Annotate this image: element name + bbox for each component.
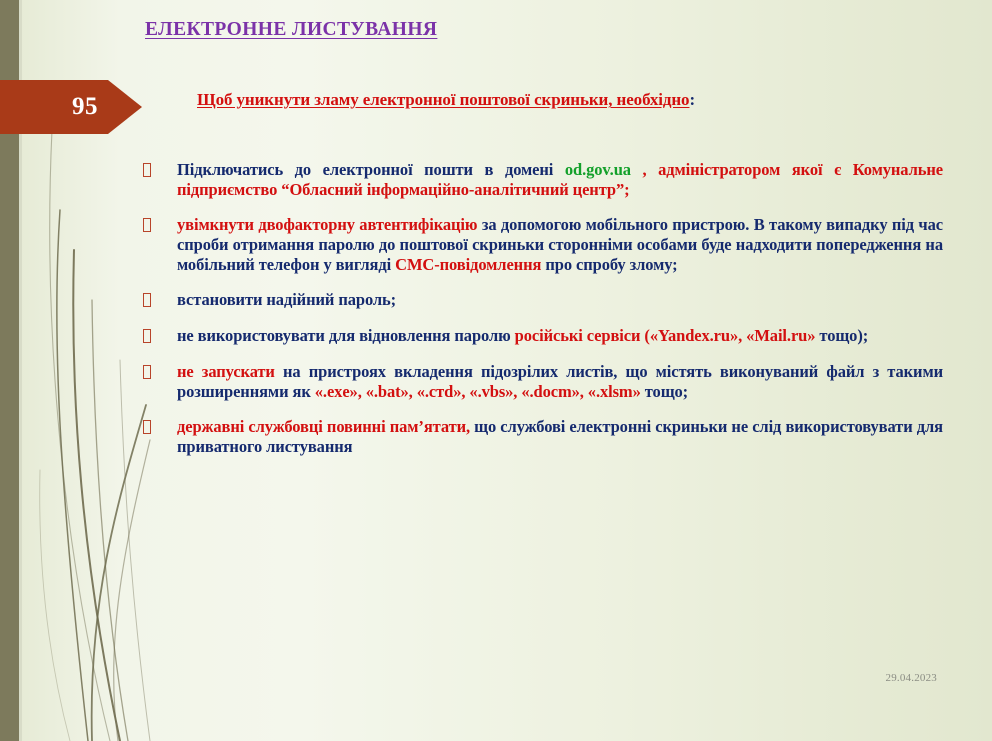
- presentation-slide: 95 ЕЛЕКТРОННЕ ЛИСТУВАННЯ Щоб уникнути зл…: [0, 0, 992, 741]
- square-bullet-icon: [143, 215, 177, 236]
- text-segment: про спробу злому;: [541, 255, 677, 274]
- text-segment: не використовувати для відновлення парол…: [177, 326, 515, 345]
- list-item-text: встановити надійний пароль;: [177, 290, 943, 310]
- square-bullet-icon: [143, 290, 177, 311]
- bullet-list: Підключатись до електронної пошти в доме…: [143, 160, 943, 472]
- slide-title: ЕЛЕКТРОННЕ ЛИСТУВАННЯ: [145, 19, 437, 41]
- slide-number-banner: 95: [0, 80, 142, 134]
- slide-number: 95: [72, 93, 98, 121]
- list-item-text: увімкнути двофакторну автентифікацію за …: [177, 215, 943, 275]
- text-segment: встановити надійний пароль;: [177, 290, 396, 309]
- text-segment: СМС-повідомлення: [395, 255, 541, 274]
- text-segment: тощо);: [815, 326, 868, 345]
- subtitle-text: Щоб уникнути зламу електронної поштової …: [197, 90, 689, 109]
- list-item: не використовувати для відновлення парол…: [143, 326, 943, 347]
- square-bullet-icon: [143, 160, 177, 181]
- text-segment: увімкнути двофакторну автентифікацію: [177, 215, 477, 234]
- text-segment: , адміністратором якої є: [631, 160, 853, 179]
- text-segment: російські сервіси («Yandex.ru», «Mail.ru…: [515, 326, 816, 345]
- square-bullet-icon: [143, 326, 177, 347]
- text-segment-extensions: «.exe», «.bat», «.cтd», «.vbs», «.docm»,…: [315, 382, 641, 401]
- list-item: державні службовці повинні пам’ятати, що…: [143, 417, 943, 457]
- text-segment: Підключатись до електронної пошти в доме…: [177, 160, 565, 179]
- subtitle-colon: :: [689, 90, 695, 109]
- list-item-text: державні службовці повинні пам’ятати, що…: [177, 417, 943, 457]
- square-bullet-icon: [143, 417, 177, 438]
- list-item: не запускати на пристроях вкладення підо…: [143, 362, 943, 402]
- date-stamp: 29.04.2023: [886, 672, 938, 684]
- slide-subtitle: Щоб уникнути зламу електронної поштової …: [197, 90, 695, 110]
- list-item-text: Підключатись до електронної пошти в доме…: [177, 160, 943, 200]
- square-bullet-icon: [143, 362, 177, 383]
- text-segment: не запускати: [177, 362, 275, 381]
- list-item: Підключатись до електронної пошти в доме…: [143, 160, 943, 200]
- text-segment: державні службовці повинні пам’ятати,: [177, 417, 470, 436]
- list-item: встановити надійний пароль;: [143, 290, 943, 311]
- list-item-text: не запускати на пристроях вкладення підо…: [177, 362, 943, 402]
- list-item: увімкнути двофакторну автентифікацію за …: [143, 215, 943, 275]
- text-segment: тощо;: [641, 382, 688, 401]
- text-segment-domain: od.gov.ua: [565, 160, 631, 179]
- list-item-text: не використовувати для відновлення парол…: [177, 326, 943, 346]
